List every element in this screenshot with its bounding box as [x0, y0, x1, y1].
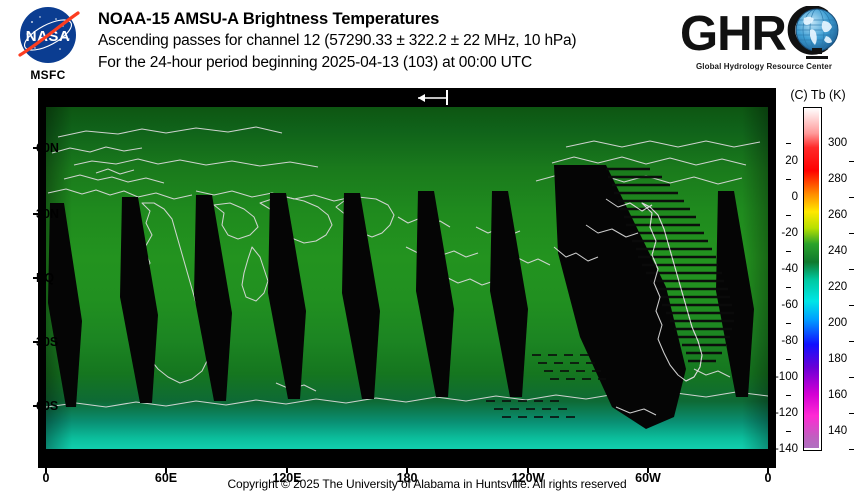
colorbar-label-m60c: -60 — [781, 299, 798, 311]
colorbar-tick — [786, 179, 791, 180]
colorbar-label-20c: 20 — [785, 155, 798, 167]
colorbar-tick — [849, 233, 854, 234]
colorbar-label-300k: 300 — [828, 137, 847, 149]
svg-text:GHR: GHR — [680, 7, 787, 61]
colorbar-label-m40c: -40 — [781, 263, 798, 275]
brightness-temperature-map — [46, 107, 768, 449]
colorbar-tick — [849, 269, 854, 270]
colorbar-label-200k: 200 — [828, 317, 847, 329]
nasa-meatball-icon: NASA — [8, 4, 88, 66]
nasa-logo: NASA MSFC — [8, 4, 88, 86]
colorbar-tick — [849, 161, 854, 162]
colorbar-tick — [849, 305, 854, 306]
header: NASA MSFC NOAA-15 AMSU-A Brightness Temp… — [0, 0, 854, 92]
colorbar-tick — [849, 377, 854, 378]
map-frame: 60N 30N EQ 30S 60S 0 60E 120E 180 120W 6… — [38, 88, 776, 468]
colorbar-tick — [849, 449, 854, 450]
colorbar-tick — [786, 395, 791, 396]
colorbar-label-m100c: -100 — [775, 371, 798, 383]
map-raster — [46, 107, 768, 449]
colorbar-title: (C) Tb (K) — [772, 88, 854, 102]
colorbar-label-280k: 280 — [828, 173, 847, 185]
colorbar-label-m20c: -20 — [781, 227, 798, 239]
ghrc-subtitle: Global Hydrology Resource Center — [684, 62, 844, 71]
title-subtitle-channel: Ascending passes for channel 12 (57290.3… — [98, 30, 678, 52]
colorbar-label-m80c: -80 — [781, 335, 798, 347]
colorbar-label-m140c: -140 — [775, 443, 798, 455]
colorbar-tick — [849, 341, 854, 342]
colorbar-label-220k: 220 — [828, 281, 847, 293]
colorbar-label-0c: 0 — [792, 191, 798, 203]
map-plot: 60N 30N EQ 30S 60S 0 60E 120E 180 120W 6… — [38, 88, 776, 468]
colorbar-gradient — [803, 107, 822, 451]
colorbar-tick — [786, 287, 791, 288]
colorbar: (C) Tb (K) — [786, 88, 854, 468]
title-block: NOAA-15 AMSU-A Brightness Temperatures A… — [98, 9, 678, 74]
swath-start-marker-icon — [398, 88, 458, 107]
ghrc-logo: GHR Global Hydrology Resource Center — [676, 6, 848, 80]
title-subtitle-period: For the 24-hour period beginning 2025-04… — [98, 52, 678, 74]
colorbar-label-140k: 140 — [828, 425, 847, 437]
colorbar-tick — [849, 413, 854, 414]
colorbar-tick — [786, 251, 791, 252]
colorbar-tick — [849, 197, 854, 198]
colorbar-label-240k: 240 — [828, 245, 847, 257]
colorbar-label-160k: 160 — [828, 389, 847, 401]
colorbar-tick — [786, 215, 791, 216]
colorbar-tick — [786, 359, 791, 360]
nasa-center-label: MSFC — [8, 68, 88, 82]
colorbar-tick — [786, 323, 791, 324]
colorbar-label-260k: 260 — [828, 209, 847, 221]
colorbar-tick — [786, 143, 791, 144]
colorbar-label-m120c: -120 — [775, 407, 798, 419]
copyright-notice: Copyright © 2025 The University of Alaba… — [0, 477, 854, 491]
colorbar-raster — [804, 108, 819, 448]
page-title: NOAA-15 AMSU-A Brightness Temperatures — [98, 9, 678, 30]
ghrc-wordmark-icon: GHR — [676, 6, 848, 64]
colorbar-tick — [786, 431, 791, 432]
colorbar-label-180k: 180 — [828, 353, 847, 365]
